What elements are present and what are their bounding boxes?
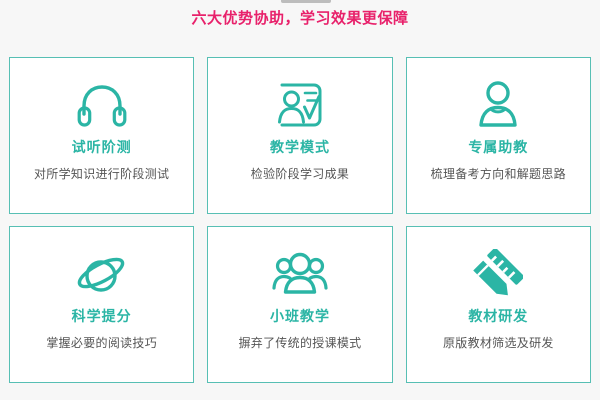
promo-features-page: 六大优势协助，学习效果更保障 试听阶测 对所学知识进行阶段测试 bbox=[0, 0, 600, 400]
feature-card-desc: 检验阶段学习成果 bbox=[251, 165, 349, 183]
feature-card-desc: 原版教材筛选及研发 bbox=[443, 334, 554, 352]
feature-card-desc: 摒弃了传统的授课模式 bbox=[238, 334, 361, 352]
pencil-ruler-icon bbox=[469, 247, 527, 301]
feature-card-title: 教学模式 bbox=[270, 138, 330, 158]
feature-card-desc: 掌握必要的阅读技巧 bbox=[46, 334, 157, 352]
headphones-icon bbox=[73, 78, 131, 132]
feature-card-title: 小班教学 bbox=[270, 307, 330, 327]
group-people-icon bbox=[271, 247, 329, 301]
user-person-icon bbox=[469, 78, 527, 132]
feature-card-teaching-mode[interactable]: 教学模式 检验阶段学习成果 bbox=[207, 57, 392, 214]
feature-card-trial-assessment[interactable]: 试听阶测 对所学知识进行阶段测试 bbox=[9, 57, 194, 214]
feature-card-title: 专属助教 bbox=[468, 138, 528, 158]
feature-card-material-development[interactable]: 教材研发 原版教材筛选及研发 bbox=[406, 226, 591, 383]
planet-saturn-icon bbox=[73, 247, 131, 301]
feature-card-small-class[interactable]: 小班教学 摒弃了传统的授课模式 bbox=[207, 226, 392, 383]
feature-card-title: 教材研发 bbox=[468, 307, 528, 327]
page-title: 六大优势协助，学习效果更保障 bbox=[0, 7, 600, 29]
feature-card-desc: 对所学知识进行阶段测试 bbox=[34, 165, 169, 183]
feature-card-title: 科学提分 bbox=[72, 307, 132, 327]
feature-card-dedicated-assistant[interactable]: 专属助教 梳理备考方向和解题思路 bbox=[406, 57, 591, 214]
feature-card-desc: 梳理备考方向和解题思路 bbox=[431, 165, 566, 183]
feature-card-grid: 试听阶测 对所学知识进行阶段测试 教学模式 检验阶段学习成果 bbox=[9, 57, 591, 383]
feature-card-title: 试听阶测 bbox=[72, 138, 132, 158]
feature-card-scientific-score[interactable]: 科学提分 掌握必要的阅读技巧 bbox=[9, 226, 194, 383]
top-cutoff-bar bbox=[281, 0, 331, 3]
id-card-person-check-icon bbox=[271, 78, 329, 132]
